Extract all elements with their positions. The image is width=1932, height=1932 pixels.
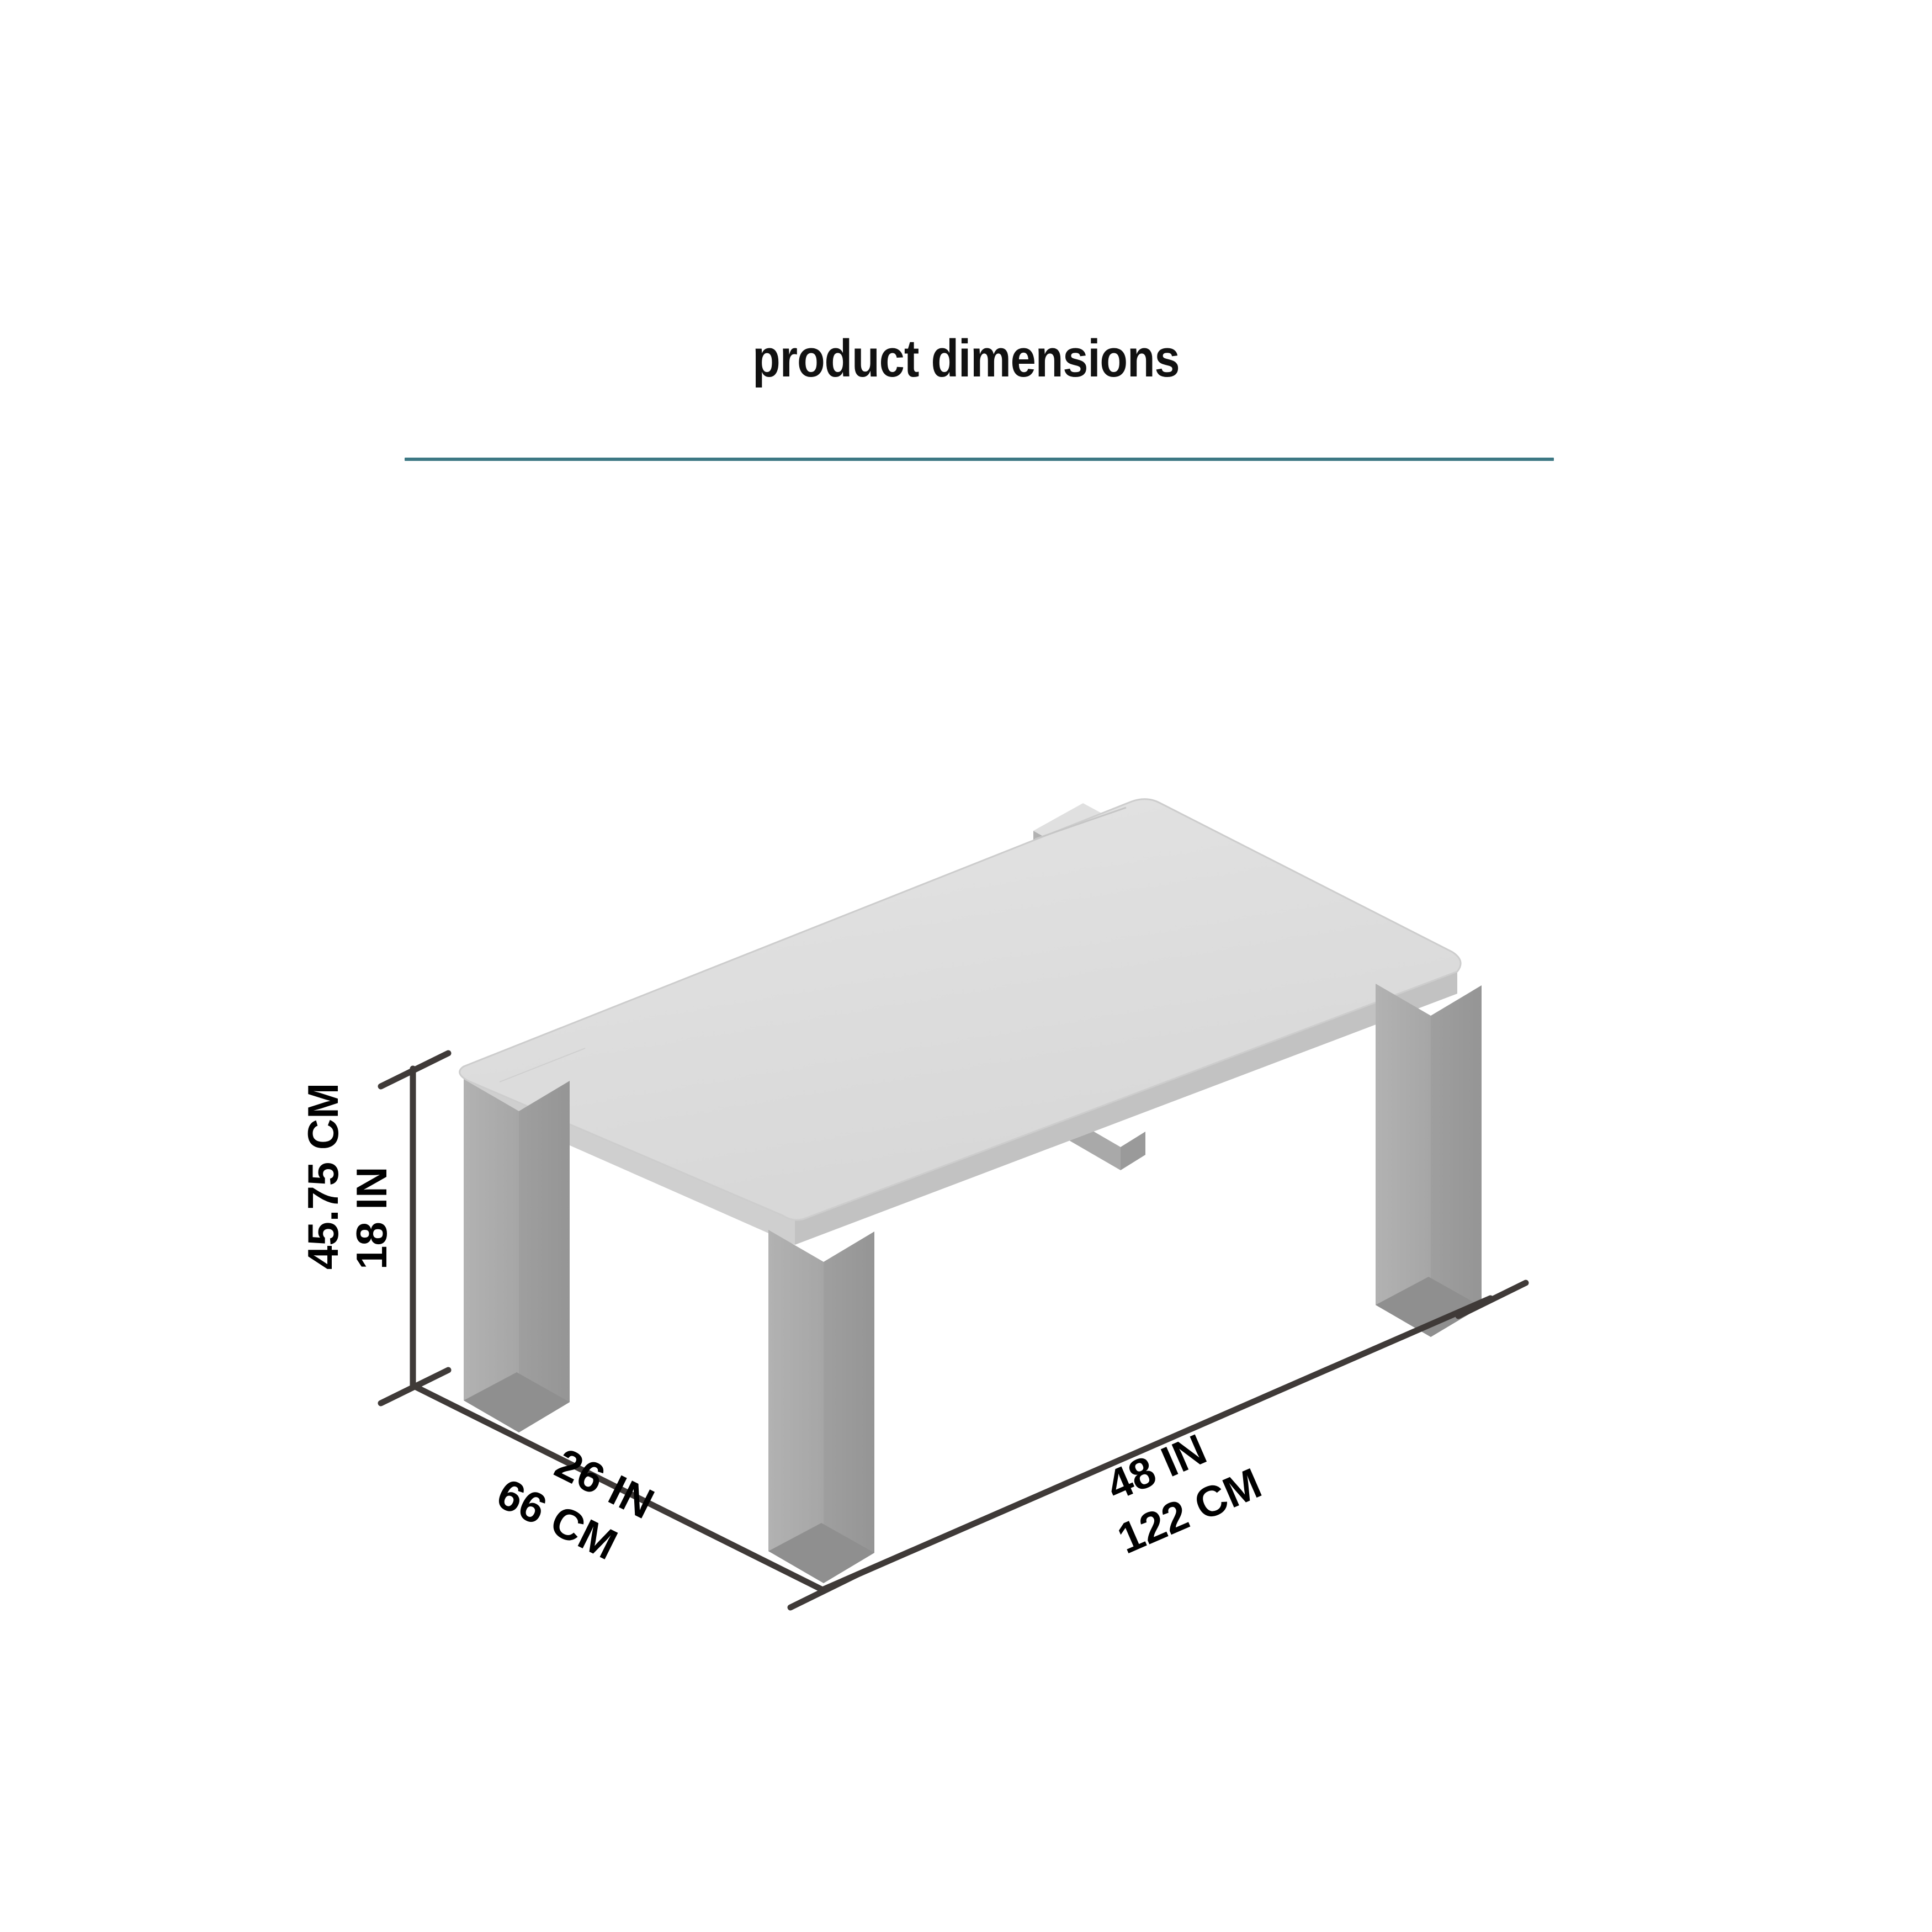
height-metric-value: 45.75 CM [299, 1083, 347, 1270]
table-leg-right [1376, 984, 1482, 1337]
table-leg-front-left [464, 1079, 570, 1432]
table-leg-front-center [768, 1230, 874, 1583]
width-dimension-label: 48 IN 122 CM [1089, 1410, 1268, 1563]
table-top-slab [460, 799, 1461, 1245]
depth-dimension-label: 26 IN 66 CM [490, 1421, 662, 1575]
dimension-figure: 18 IN 45.75 CM 26 IN 66 CM 48 IN 122 CM [0, 0, 1932, 1932]
height-imperial-value: 18 IN [347, 1167, 396, 1270]
product-dimensions-page: product dimensions [0, 0, 1932, 1932]
height-dimension-label: 18 IN 45.75 CM [299, 1083, 396, 1270]
